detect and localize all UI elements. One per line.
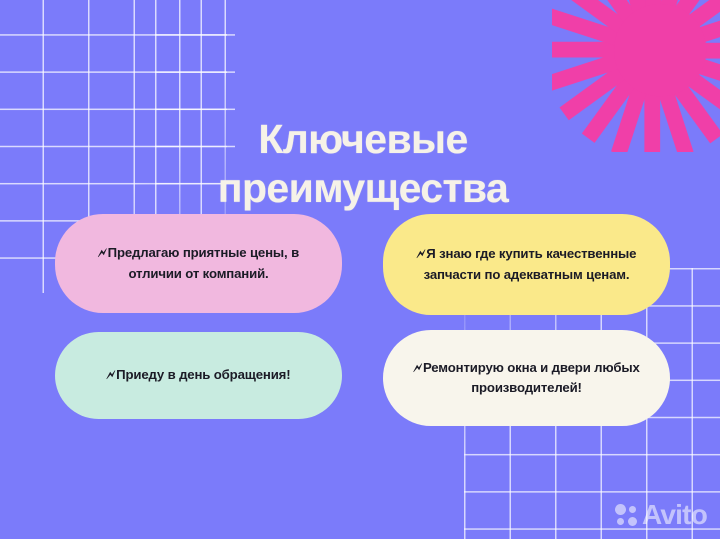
- page-title: Ключевые преимущества: [0, 115, 720, 213]
- lightning-bolt-icon: 🗲: [417, 246, 426, 261]
- benefit-card-text: 🗲Предлагаю приятные цены, в отличии от к…: [77, 243, 320, 284]
- avito-logo-icon: [615, 504, 637, 526]
- benefit-card-parts: 🗲Я знаю где купить качественные запчасти…: [383, 214, 670, 315]
- benefit-card-label: Предлагаю приятные цены, в отличии от ко…: [108, 245, 299, 281]
- benefit-card-brands: 🗲Ремонтирую окна и двери любых производи…: [383, 330, 670, 426]
- benefit-card-label: Ремонтирую окна и двери любых производит…: [423, 360, 640, 396]
- lightning-bolt-icon: 🗲: [107, 367, 116, 382]
- benefit-card-text: 🗲Я знаю где купить качественные запчасти…: [405, 244, 648, 285]
- lightning-bolt-icon: 🗲: [413, 360, 422, 375]
- benefit-card-same-day: 🗲Приеду в день обращения!: [55, 332, 342, 419]
- poster-canvas: Ключевые преимущества 🗲Предлагаю приятны…: [0, 0, 720, 539]
- benefit-card-prices: 🗲Предлагаю приятные цены, в отличии от к…: [55, 214, 342, 313]
- benefit-card-label: Приеду в день обращения!: [116, 367, 290, 382]
- benefit-card-text: 🗲Приеду в день обращения!: [107, 365, 291, 386]
- benefit-card-label: Я знаю где купить качественные запчасти …: [424, 246, 637, 282]
- avito-watermark-label: Avito: [642, 501, 707, 529]
- avito-watermark: Avito: [615, 501, 707, 529]
- lightning-bolt-icon: 🗲: [98, 245, 107, 260]
- benefit-card-text: 🗲Ремонтирую окна и двери любых производи…: [405, 358, 648, 399]
